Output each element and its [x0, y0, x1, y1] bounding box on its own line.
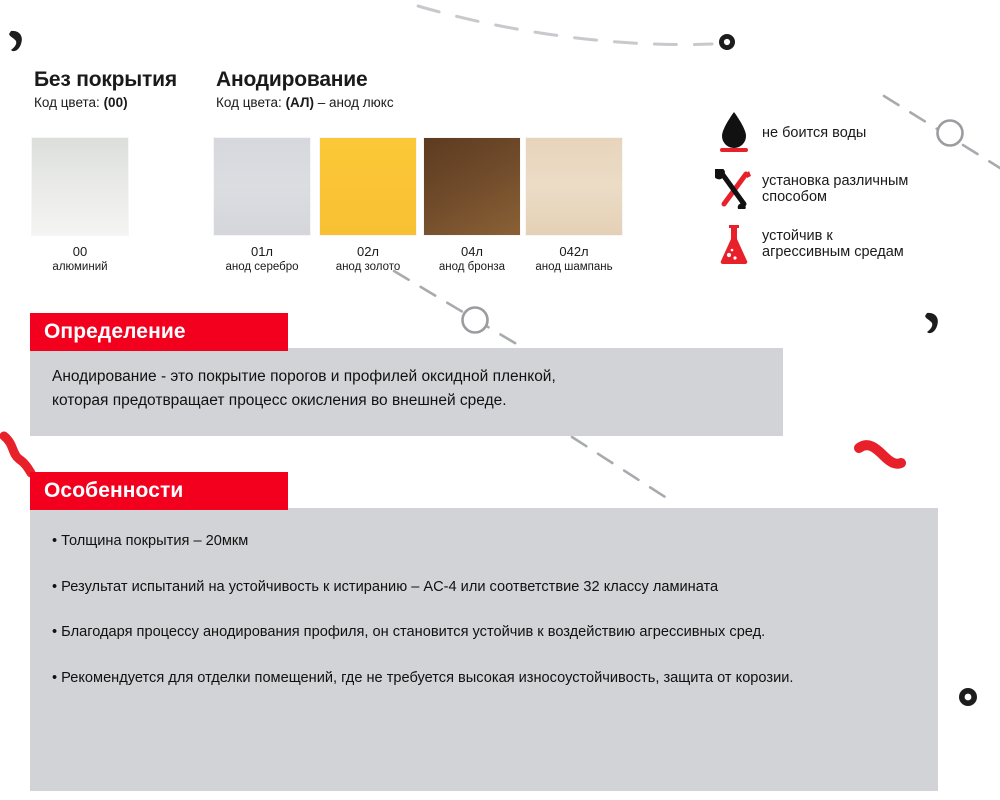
- swatch-chip: [526, 138, 622, 235]
- group-heading-anodizing: Анодирование Код цвета: (АЛ) – анод люкс: [216, 68, 394, 110]
- feature-item: • Рекомендуется для отделки помещений, г…: [52, 667, 914, 691]
- feature-item: • Благодаря процессу анодирования профил…: [52, 621, 914, 645]
- legend-row-chemical-resistant: устойчив к агрессивным средам: [712, 222, 990, 266]
- red-squiggle-right: [859, 445, 901, 464]
- ring-dot-bottom-right: [959, 688, 977, 706]
- swatch-04l-bronze[interactable]: 04л анод бронза: [424, 138, 520, 273]
- group-subtitle: Код цвета: (00): [34, 95, 177, 110]
- definition-line-2: которая предотвращает процесс окисления …: [52, 389, 761, 413]
- swatch-code: 04л: [424, 244, 520, 259]
- dashed-curve-top: [418, 6, 712, 45]
- swatch-name: анод шампань: [526, 261, 622, 273]
- ring-dot-bottom-right-hole: [965, 694, 972, 701]
- comma-mark-top-left: [9, 31, 22, 51]
- flask-icon: [712, 223, 756, 265]
- swatch-chip: [424, 138, 520, 235]
- legend-label-line1: установка различным: [762, 173, 908, 189]
- comma-mark-right: [925, 313, 938, 333]
- swatch-name: анод серебро: [214, 261, 310, 273]
- swatch-chip: [32, 138, 128, 235]
- hollow-circle-center: [463, 308, 488, 333]
- swatch-01l-silver[interactable]: 01л анод серебро: [214, 138, 310, 273]
- legend-label-line1: устойчив к: [762, 228, 904, 244]
- group-subtitle-prefix: Код цвета:: [216, 95, 286, 110]
- legend-label: устойчив к агрессивным средам: [756, 228, 904, 260]
- swatch-name: алюминий: [32, 261, 128, 273]
- feature-item: • Толщина покрытия – 20мкм: [52, 530, 914, 554]
- section-tab-definition: Определение: [30, 313, 288, 351]
- swatch-name: анод золото: [320, 261, 416, 273]
- infographic-page: Без покрытия Код цвета: (00) Анодировани…: [0, 0, 1000, 800]
- swatch-code: 02л: [320, 244, 416, 259]
- features-panel: • Толщина покрытия – 20мкм • Результат и…: [30, 508, 938, 791]
- water-drop-icon: [712, 110, 756, 156]
- crossed-tools-icon: [712, 169, 756, 209]
- group-title: Анодирование: [216, 68, 394, 91]
- definition-line-1: Анодирование - это покрытие порогов и пр…: [52, 365, 761, 389]
- ring-dot-top-right-hole: [724, 39, 730, 45]
- group-title: Без покрытия: [34, 68, 177, 91]
- swatch-code: 042л: [526, 244, 622, 259]
- legend-row-installation: установка различным способом: [712, 167, 990, 211]
- swatch-02l-gold[interactable]: 02л анод золото: [320, 138, 416, 273]
- swatch-chip: [214, 138, 310, 235]
- swatch-chip: [320, 138, 416, 235]
- group-subtitle-code: (00): [104, 95, 128, 110]
- swatch-00-aluminium[interactable]: 00 алюминий: [32, 138, 128, 273]
- swatch-code: 01л: [214, 244, 310, 259]
- dashed-line-center: [394, 271, 540, 358]
- group-subtitle-suffix: – анод люкс: [314, 95, 394, 110]
- definition-panel: Анодирование - это покрытие порогов и пр…: [30, 348, 783, 436]
- feature-item: • Результат испытаний на устойчивость к …: [52, 576, 914, 600]
- swatch-name: анод бронза: [424, 261, 520, 273]
- group-heading-uncoated: Без покрытия Код цвета: (00): [34, 68, 177, 110]
- group-subtitle-code: (АЛ): [286, 95, 314, 110]
- red-squiggle-left: [4, 436, 31, 473]
- section-tab-features: Особенности: [30, 472, 288, 510]
- legend-label: не боится воды: [756, 125, 866, 141]
- swatch-042l-champagne[interactable]: 042л анод шампань: [526, 138, 622, 273]
- legend-label-line2: агрессивным средам: [762, 244, 904, 260]
- ring-dot-top-right: [719, 34, 735, 50]
- swatch-code: 00: [32, 244, 128, 259]
- dashed-line-center-lower: [572, 437, 676, 504]
- property-legend: не боится воды установка различным спосо…: [712, 110, 990, 277]
- legend-label-line2: способом: [762, 189, 908, 205]
- group-subtitle-prefix: Код цвета:: [34, 95, 104, 110]
- group-subtitle: Код цвета: (АЛ) – анод люкс: [216, 95, 394, 110]
- legend-label: установка различным способом: [756, 173, 908, 205]
- legend-row-waterproof: не боится воды: [712, 110, 990, 156]
